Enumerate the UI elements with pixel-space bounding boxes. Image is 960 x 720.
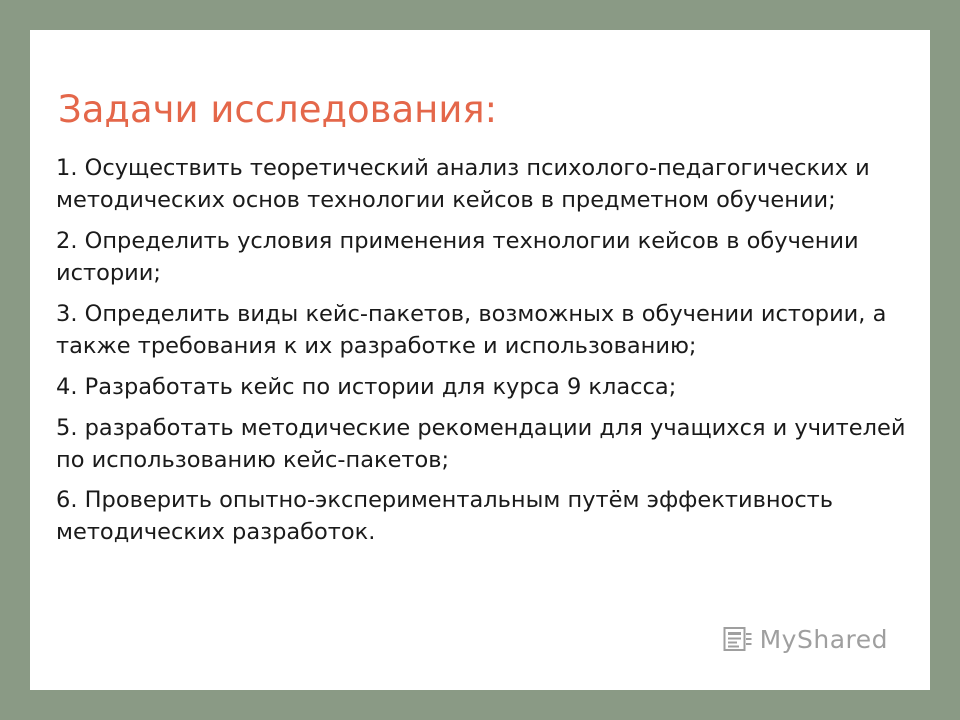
list-item: 3. Определить виды кейс-пакетов, возможн… [56,299,906,363]
slide-border-bottom [0,690,960,720]
page-title: Задачи исследования: [58,90,898,131]
list-item: 4. Разработать кейс по истории для курса… [56,372,906,404]
slide-border-top [0,0,960,30]
slide-border-left [0,0,30,720]
slide-border-right [930,0,960,720]
task-list: 1. Осуществить теоретический анализ псих… [56,153,906,549]
myshared-logo-icon [723,624,753,654]
list-item: 6. Проверить опытно-экспериментальным пу… [56,485,906,549]
slide-canvas: Задачи исследования: 1. Осуществить теор… [0,0,960,720]
list-item: 2. Определить условия применения техноло… [56,226,906,290]
watermark-label: MyShared [760,625,888,654]
list-item: 5. разработать методические рекомендации… [56,413,906,477]
watermark: MyShared [723,624,888,654]
list-item: 1. Осуществить теоретический анализ псих… [56,153,906,217]
slide-content-area: Задачи исследования: 1. Осуществить теор… [30,30,930,690]
